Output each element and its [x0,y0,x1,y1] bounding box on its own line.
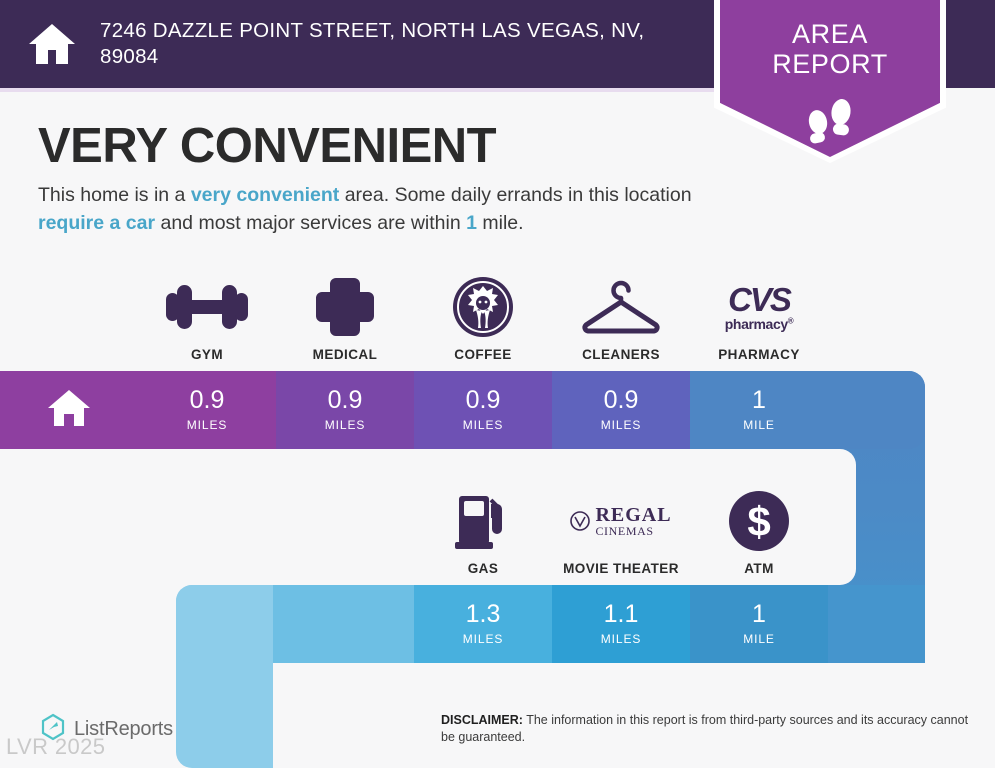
distance-segment-medical: 0.9 MILES [276,371,414,449]
distance-value: 0.9 [466,388,501,413]
amenity-label: COFFEE [454,347,511,362]
distance-segment-gas: 1.3 MILES [414,585,552,663]
home-segment [0,371,138,449]
bar-tail-1 [828,371,925,449]
distance-segment-atm: 1 MILE [690,585,828,663]
desc-text-3: and most major services are within [155,212,466,234]
distance-unit: MILE [743,632,775,646]
gas-pump-icon [451,487,515,555]
amenity-pharmacy: CVS pharmacy® PHARMACY [690,262,828,362]
amenity-gym: GYM [138,262,276,362]
property-address: 7246 DAZZLE POINT STREET, NORTH LAS VEGA… [100,18,702,70]
cvs-pharmacy-icon: CVS pharmacy® [725,273,793,341]
distance-value: 1 [752,388,766,413]
amenity-icon-row-2: GAS REGAL CINEMAS MOVIE THEATER [414,476,828,576]
disclaimer: DISCLAIMER: The information in this repo… [441,712,971,747]
amenity-coffee: COFFEE [414,262,552,362]
desc-highlight-2: require a car [38,212,155,234]
amenity-label: PHARMACY [718,347,800,362]
svg-text:$: $ [747,498,770,545]
desc-text-2: area. Some daily errands in this locatio… [339,184,691,206]
desc-highlight-1: very convenient [191,184,339,206]
amenity-label: MOVIE THEATER [563,561,679,576]
desc-text-1: This home is in a [38,184,191,206]
amenity-cleaners: CLEANERS [552,262,690,362]
snake-left-notch [273,663,301,768]
bar-tail-2 [828,585,925,663]
distance-value: 1 [752,602,766,627]
distance-bar-row-1: 0.9 MILES 0.9 MILES 0.9 MILES 0.9 MILES … [0,371,925,449]
amenity-label: CLEANERS [582,347,660,362]
distance-unit: MILES [463,632,504,646]
bar-lead-1 [176,585,273,663]
home-icon [47,387,91,434]
amenity-label: GYM [191,347,223,362]
distance-segment-coffee: 0.9 MILES [414,371,552,449]
distance-unit: MILES [463,418,504,432]
distance-value: 0.9 [328,388,363,413]
distance-unit: MILES [601,418,642,432]
bar-lead-2 [273,585,414,663]
distance-segment-pharmacy: 1 MILE [690,371,828,449]
disclaimer-label: DISCLAIMER: [441,713,523,727]
dollar-circle-icon: $ [728,487,790,555]
watermark: LVR 2025 [6,734,105,760]
distance-value: 0.9 [604,388,639,413]
starbucks-icon [452,273,514,341]
regal-cinemas-icon: REGAL CINEMAS [570,487,671,555]
distance-value: 0.9 [190,388,225,413]
distance-segment-cleaners: 0.9 MILES [552,371,690,449]
badge-text: AREA REPORT [714,19,946,79]
page-title: VERY CONVENIENT [38,118,698,174]
badge-line-1: AREA [714,19,946,49]
area-report-page: 7246 DAZZLE POINT STREET, NORTH LAS VEGA… [0,0,995,768]
amenity-atm: $ ATM [690,476,828,576]
distance-unit: MILE [743,418,775,432]
distance-unit: MILES [325,418,366,432]
area-report-badge: AREA REPORT [714,0,946,163]
snake-right-notch [828,449,856,585]
header-underline [0,88,720,92]
badge-line-2: REPORT [714,49,946,79]
amenity-label: MEDICAL [313,347,378,362]
amenity-medical: MEDICAL [276,262,414,362]
amenity-icon-row-1: GYM MEDICAL COFFEE [138,262,828,362]
distance-bar-row-2: 1.3 MILES 1.1 MILES 1 MILE [176,585,925,663]
amenity-label: ATM [744,561,774,576]
amenity-label: GAS [468,561,499,576]
page-description: This home is in a very convenient area. … [38,182,710,238]
distance-segment-movie-theater: 1.1 MILES [552,585,690,663]
distance-value: 1.3 [466,602,501,627]
amenity-gas: GAS [414,476,552,576]
distance-value: 1.1 [604,602,639,627]
desc-text-4: mile. [477,212,524,234]
distance-unit: MILES [601,632,642,646]
footprints-icon [800,96,860,150]
header-bar: 7246 DAZZLE POINT STREET, NORTH LAS VEGA… [0,0,720,88]
dumbbell-icon [164,273,250,341]
medical-cross-icon [314,273,376,341]
desc-highlight-3: 1 [466,212,477,234]
amenity-movie-theater: REGAL CINEMAS MOVIE THEATER [552,476,690,576]
distance-segment-gym: 0.9 MILES [138,371,276,449]
hanger-icon [578,273,664,341]
distance-unit: MILES [187,418,228,432]
home-icon [26,18,78,70]
